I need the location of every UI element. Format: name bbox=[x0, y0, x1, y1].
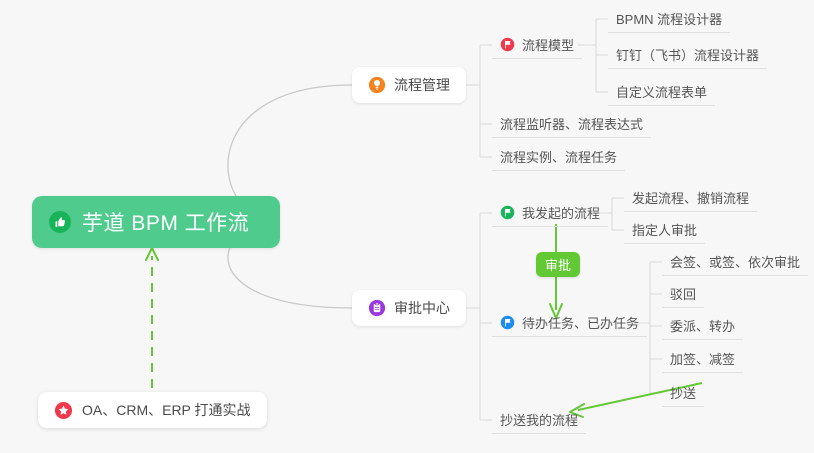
node-start-cancel-process[interactable]: 发起流程、撤销流程 bbox=[624, 184, 757, 212]
node-todo-done-tasks[interactable]: 待办任务、已办任务 bbox=[492, 309, 647, 337]
node-process-instance-label: 流程实例、流程任务 bbox=[500, 147, 617, 166]
node-start-cancel-process-label: 发起流程、撤销流程 bbox=[632, 188, 749, 207]
node-copied-to-me[interactable]: 抄送我的流程 bbox=[492, 406, 586, 434]
clipboard-icon bbox=[368, 299, 386, 317]
callout-label: OA、CRM、ERP 打通实战 bbox=[82, 400, 251, 420]
star-icon bbox=[54, 401, 73, 420]
node-delegate-transfer[interactable]: 委派、转办 bbox=[662, 312, 743, 340]
node-my-started-processes-label: 我发起的流程 bbox=[522, 203, 600, 222]
node-my-started-processes[interactable]: 我发起的流程 bbox=[492, 199, 608, 227]
flag-blue-icon bbox=[500, 315, 515, 330]
node-assignee-approval-label: 指定人审批 bbox=[632, 220, 697, 239]
flag-green-icon bbox=[500, 205, 515, 220]
root-label: 芋道 BPM 工作流 bbox=[82, 207, 249, 237]
node-custom-form-label: 自定义流程表单 bbox=[616, 82, 707, 101]
node-dingtalk-designer[interactable]: 钉钉（飞书）流程设计器 bbox=[608, 41, 767, 69]
approval-badge: 审批 bbox=[536, 252, 580, 277]
node-todo-done-tasks-label: 待办任务、已办任务 bbox=[522, 313, 639, 332]
node-carbon-copy[interactable]: 抄送 bbox=[662, 379, 704, 407]
branch-approval-label: 审批中心 bbox=[394, 298, 450, 318]
node-carbon-copy-label: 抄送 bbox=[670, 383, 696, 402]
node-process-instance[interactable]: 流程实例、流程任务 bbox=[492, 143, 625, 171]
node-delegate-transfer-label: 委派、转办 bbox=[670, 316, 735, 335]
node-custom-form[interactable]: 自定义流程表单 bbox=[608, 78, 715, 106]
lightbulb-icon bbox=[368, 76, 386, 94]
node-copied-to-me-label: 抄送我的流程 bbox=[500, 410, 578, 429]
root-node[interactable]: 芋道 BPM 工作流 bbox=[32, 196, 280, 248]
branch-process-management[interactable]: 流程管理 bbox=[352, 67, 466, 103]
node-reject-label: 驳回 bbox=[670, 284, 696, 303]
node-countersign-label: 会签、或签、依次审批 bbox=[670, 252, 800, 271]
arrow-callout-to-root bbox=[146, 248, 158, 388]
node-process-listener-label: 流程监听器、流程表达式 bbox=[500, 114, 643, 133]
branch-approval-center[interactable]: 审批中心 bbox=[352, 290, 466, 326]
mindmap-canvas: 芋道 BPM 工作流 流程管理 流程模型 流程监听器、流程表达式 流程实例、流程… bbox=[0, 0, 814, 453]
branch-process-label: 流程管理 bbox=[394, 75, 450, 95]
node-process-model-label: 流程模型 bbox=[522, 35, 574, 54]
node-bpmn-designer-label: BPMN 流程设计器 bbox=[616, 9, 722, 28]
node-add-remove-sign-label: 加签、减签 bbox=[670, 349, 735, 368]
node-reject[interactable]: 驳回 bbox=[662, 280, 704, 308]
node-countersign[interactable]: 会签、或签、依次审批 bbox=[662, 248, 808, 276]
node-assignee-approval[interactable]: 指定人审批 bbox=[624, 216, 705, 244]
node-add-remove-sign[interactable]: 加签、减签 bbox=[662, 345, 743, 373]
thumbs-up-icon bbox=[48, 210, 72, 234]
node-bpmn-designer[interactable]: BPMN 流程设计器 bbox=[608, 5, 730, 33]
node-process-listener[interactable]: 流程监听器、流程表达式 bbox=[492, 110, 651, 138]
approval-badge-label: 审批 bbox=[545, 258, 571, 273]
node-dingtalk-designer-label: 钉钉（飞书）流程设计器 bbox=[616, 45, 759, 64]
node-process-model[interactable]: 流程模型 bbox=[492, 31, 582, 59]
flag-red-icon bbox=[500, 37, 515, 52]
callout-integration[interactable]: OA、CRM、ERP 打通实战 bbox=[38, 392, 267, 428]
